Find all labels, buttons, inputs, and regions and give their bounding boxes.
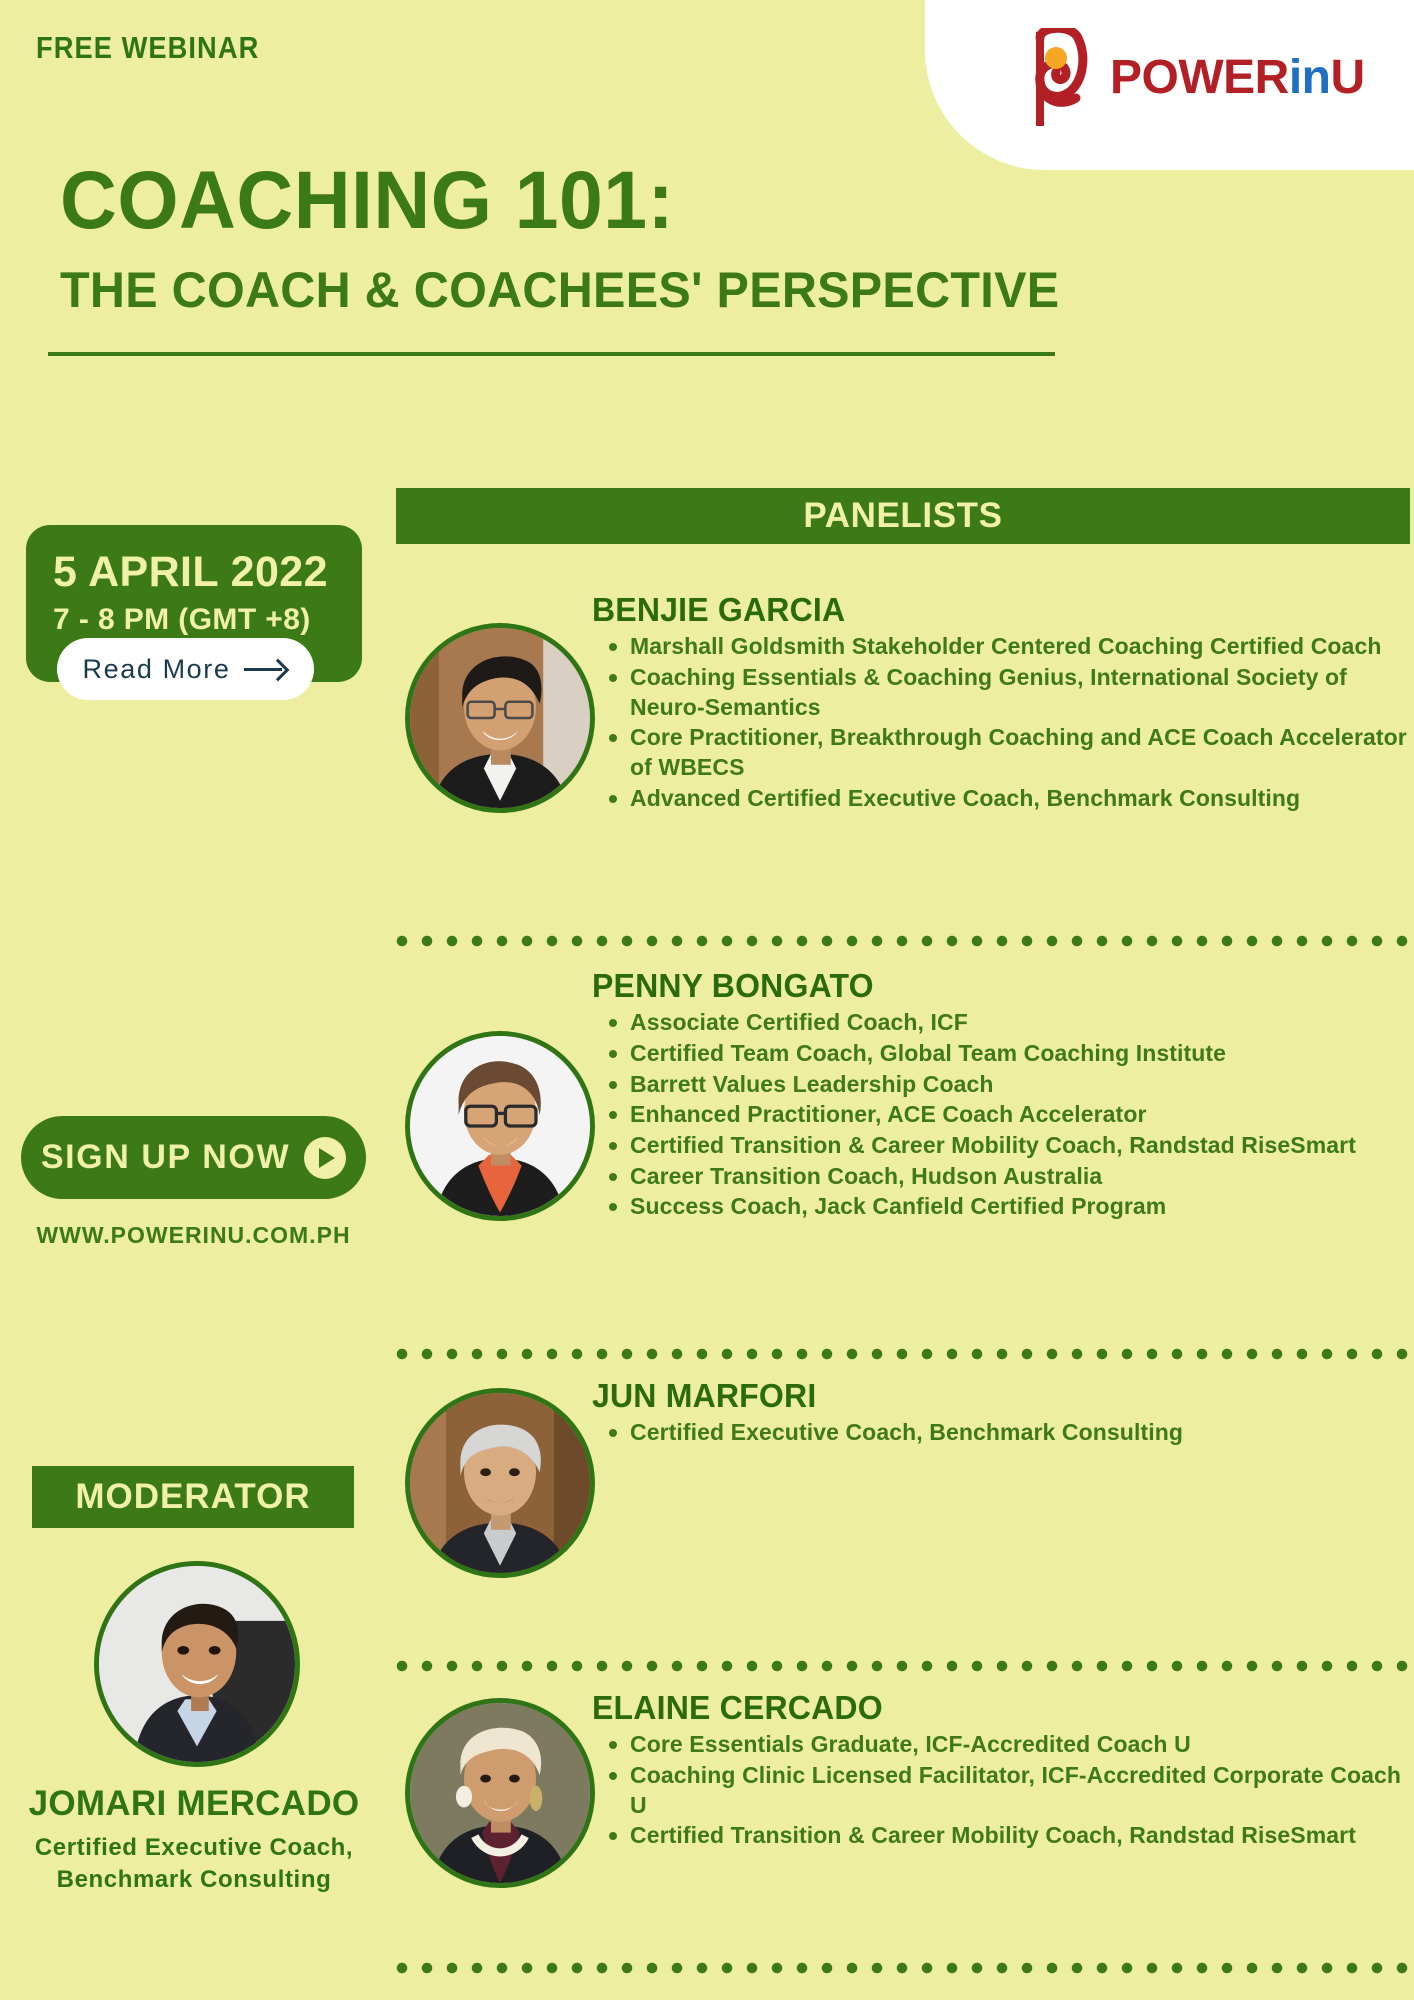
panelist-credentials: Core Essentials Graduate, ICF-Accredited… [592, 1730, 1410, 1851]
powerinu-wordmark: POWERinU [1110, 54, 1365, 102]
read-more-button[interactable]: Read More [57, 638, 314, 700]
panelist-info: PENNY BONGATO Associate Certified Coach,… [592, 968, 1410, 1223]
event-time: 7 - 8 PM (GMT +8) [53, 605, 311, 635]
panelist-avatar [405, 1388, 595, 1578]
moderator-heading-bar: MODERATOR [32, 1466, 354, 1528]
event-date: 5 APRIL 2022 [53, 551, 328, 594]
credential-item: Certified Transition & Career Mobility C… [630, 1131, 1410, 1161]
panelist-name: BENJIE GARCIA [592, 592, 1385, 628]
panelist-card: PENNY BONGATO Associate Certified Coach,… [396, 968, 1410, 1338]
logo-word-power: POWER [1110, 51, 1289, 104]
credential-item: Success Coach, Jack Canfield Certified P… [630, 1192, 1410, 1222]
moderator-avatar [94, 1561, 300, 1767]
panelist-name: JUN MARFORI [592, 1378, 1385, 1414]
panelist-credentials: Certified Executive Coach, Benchmark Con… [592, 1418, 1410, 1448]
credential-item: Core Essentials Graduate, ICF-Accredited… [630, 1730, 1410, 1760]
panelist-card: ELAINE CERCADO Core Essentials Graduate,… [396, 1690, 1410, 1940]
panelist-avatar [405, 1031, 595, 1221]
section-divider [396, 1660, 1410, 1672]
section-divider [396, 1962, 1410, 1974]
panelist-credentials: Associate Certified Coach, ICF Certified… [592, 1008, 1410, 1222]
section-divider [396, 935, 1410, 947]
credential-item: Certified Team Coach, Global Team Coachi… [630, 1039, 1410, 1069]
moderator-role: Certified Executive Coach, Benchmark Con… [0, 1832, 388, 1895]
title-divider [48, 352, 1055, 356]
panelist-info: JUN MARFORI Certified Executive Coach, B… [592, 1378, 1410, 1449]
credential-item: Core Practitioner, Breakthrough Coaching… [630, 723, 1410, 782]
panelist-name: ELAINE CERCADO [592, 1690, 1385, 1726]
credential-item: Certified Transition & Career Mobility C… [630, 1821, 1410, 1851]
logo-word-u: U [1331, 51, 1365, 104]
section-divider [396, 1348, 1410, 1360]
sign-up-label: SIGN UP NOW [41, 1138, 290, 1177]
moderator-name: JOMARI MERCADO [0, 1784, 388, 1824]
credential-item: Advanced Certified Executive Coach, Benc… [630, 784, 1410, 814]
webinar-poster: FREE WEBINAR POWERinU COACHING 101: THE … [0, 0, 1414, 2000]
website-url[interactable]: WWW.POWERINU.COM.PH [21, 1222, 366, 1249]
powerinu-logo: POWERinU [1010, 28, 1365, 128]
credential-item: Associate Certified Coach, ICF [630, 1008, 1410, 1038]
panelist-info: ELAINE CERCADO Core Essentials Graduate,… [592, 1690, 1410, 1852]
credential-item: Coaching Clinic Licensed Facilitator, IC… [630, 1761, 1410, 1820]
panelist-card: JUN MARFORI Certified Executive Coach, B… [396, 1378, 1410, 1618]
panelists-heading-label: PANELISTS [803, 496, 1002, 536]
credential-item: Barrett Values Leadership Coach [630, 1070, 1410, 1100]
page-subtitle: THE COACH & COACHEES' PERSPECTIVE [60, 265, 1059, 315]
sign-up-now-button[interactable]: SIGN UP NOW [21, 1116, 366, 1199]
panelist-avatar [405, 1698, 595, 1888]
page-title: COACHING 101: [60, 160, 674, 242]
powerinu-p-mark-icon [1010, 28, 1096, 128]
arrow-right-icon [244, 659, 288, 679]
logo-word-in: in [1289, 51, 1331, 104]
play-circle-icon [304, 1137, 346, 1179]
free-webinar-eyebrow: FREE WEBINAR [36, 30, 259, 66]
panelist-name: PENNY BONGATO [592, 968, 1385, 1004]
panelists-heading-bar: PANELISTS [396, 488, 1410, 544]
read-more-label: Read More [83, 654, 231, 685]
credential-item: Career Transition Coach, Hudson Australi… [630, 1162, 1410, 1192]
moderator-heading-label: MODERATOR [75, 1477, 310, 1517]
credential-item: Certified Executive Coach, Benchmark Con… [630, 1418, 1410, 1448]
panelist-credentials: Marshall Goldsmith Stakeholder Centered … [592, 632, 1410, 813]
credential-item: Marshall Goldsmith Stakeholder Centered … [630, 632, 1410, 662]
panelist-avatar [405, 623, 595, 813]
panelist-info: BENJIE GARCIA Marshall Goldsmith Stakeho… [592, 592, 1410, 814]
panelist-card: BENJIE GARCIA Marshall Goldsmith Stakeho… [396, 592, 1410, 922]
credential-item: Enhanced Practitioner, ACE Coach Acceler… [630, 1100, 1410, 1130]
credential-item: Coaching Essentials & Coaching Genius, I… [630, 663, 1410, 722]
